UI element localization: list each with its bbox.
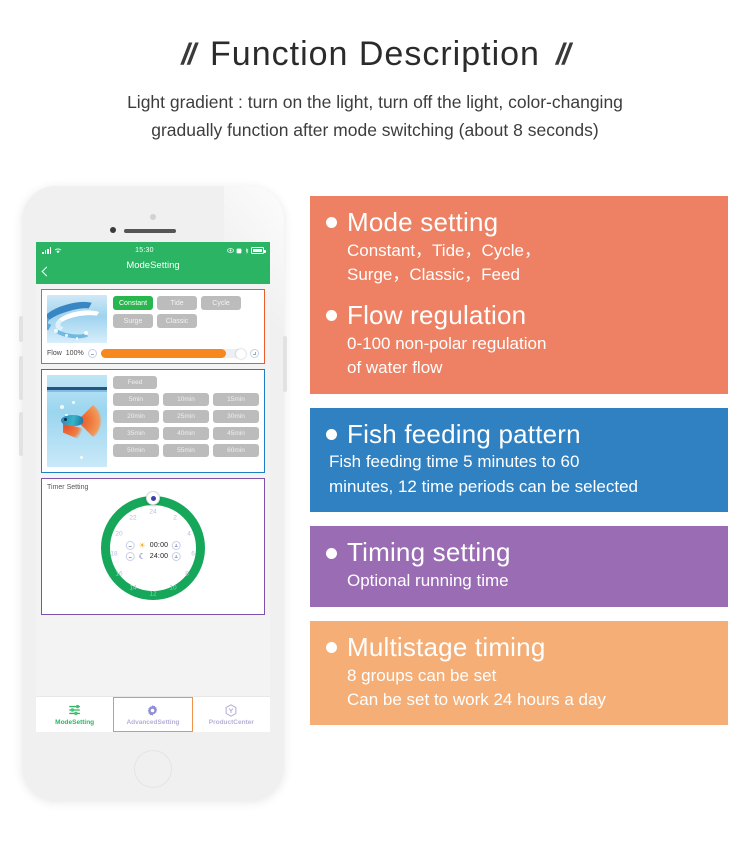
app-navbar: ModeSetting	[36, 259, 270, 284]
feature-card-timing-setting: Timing setting Optional running time	[310, 526, 728, 606]
mode-buttons: Constant Tide Cycle Surge Classic	[113, 295, 259, 343]
feed-buttons: Feed 5min 10min 15min 20min 25min 30min …	[113, 375, 259, 467]
function-description-page: // Function Description // Light gradien…	[0, 0, 750, 856]
home-button[interactable]	[134, 750, 172, 788]
hour-mark-2: 2	[173, 515, 177, 522]
status-bar-time: 15:30	[62, 247, 226, 254]
hour-mark-14: 14	[129, 585, 136, 592]
tab-advanced-setting[interactable]: AdvancedSetting	[113, 697, 192, 732]
tab-label-product-center: ProductCenter	[209, 719, 254, 726]
feed-duration-60min[interactable]: 60min	[213, 444, 259, 457]
phone-mute-switch	[19, 316, 23, 342]
timer-dial-handle[interactable]	[146, 491, 160, 505]
feed-row: Feed 5min 10min 15min 20min 25min 30min …	[47, 375, 259, 467]
bullet-dot-icon	[326, 310, 337, 321]
feed-duration-45min[interactable]: 45min	[213, 427, 259, 440]
hour-mark-6: 6	[191, 551, 195, 558]
card-line: Constant，Tide，Cycle，	[326, 240, 712, 262]
flow-slider-handle[interactable]	[236, 349, 246, 359]
status-bar-left	[42, 247, 62, 254]
feed-duration-30min[interactable]: 30min	[213, 410, 259, 423]
card-heading: Flow regulation	[326, 301, 712, 331]
navbar-title: ModeSetting	[126, 260, 179, 271]
flow-label: Flow	[47, 350, 62, 357]
feed-duration-25min[interactable]: 25min	[163, 410, 209, 423]
proximity-sensor-icon	[110, 227, 116, 233]
status-bar: 15:30	[36, 242, 270, 259]
front-camera-icon	[150, 214, 156, 220]
slash-left: //	[181, 38, 194, 71]
page-title-text: Function Description	[210, 36, 540, 73]
hour-mark-4: 4	[187, 531, 191, 538]
tab-label-advanced-setting: AdvancedSetting	[126, 719, 179, 726]
mode-button-surge[interactable]: Surge	[113, 314, 153, 328]
phone-volume-down-button	[19, 412, 23, 456]
tab-label-mode-setting: ModeSetting	[55, 719, 94, 726]
wifi-icon	[54, 247, 62, 254]
hexagon-icon	[225, 704, 237, 717]
flow-slider[interactable]	[101, 349, 246, 358]
timer-end-row: ☾ 24:00	[126, 552, 181, 561]
card-line: of water flow	[326, 357, 712, 379]
feature-card-fish-feeding: Fish feeding pattern Fish feeding time 5…	[310, 408, 728, 513]
hour-mark-16: 16	[115, 571, 122, 578]
feature-card-mode-setting: Mode setting Constant，Tide，Cycle， Surge，…	[310, 196, 728, 394]
timer-setting-panel: Timer Setting 24 2 4 6 8 10 12 14 16 18	[41, 478, 265, 615]
flow-value: 100%	[66, 350, 84, 357]
feed-duration-20min[interactable]: 20min	[113, 410, 159, 423]
card-line: 8 groups can be set	[326, 665, 712, 687]
mode-row: Constant Tide Cycle Surge Classic	[47, 295, 259, 343]
card-heading: Multistage timing	[326, 633, 712, 663]
phone-top-hardware	[22, 214, 284, 236]
signal-bars-icon	[42, 247, 51, 254]
end-time-value: 24:00	[150, 553, 169, 560]
timer-center-controls: ☀ 00:00 ☾ 24:00	[126, 539, 181, 563]
bullet-dot-icon	[326, 429, 337, 440]
page-header: // Function Description // Light gradien…	[0, 0, 750, 144]
status-bar-right	[227, 247, 265, 254]
card-title-flow-regulation: Flow regulation	[347, 301, 526, 331]
water-wave-thumbnail-icon	[47, 295, 107, 343]
hour-mark-20: 20	[115, 531, 122, 538]
eye-icon	[227, 247, 234, 254]
end-time-increase-button[interactable]	[171, 552, 180, 561]
back-chevron-icon[interactable]	[42, 267, 52, 277]
subtitle-line-2: gradually function after mode switching …	[0, 117, 750, 144]
subtitle-line-1: Light gradient : turn on the light, turn…	[0, 89, 750, 116]
feature-card-multistage-timing: Multistage timing 8 groups can be set Ca…	[310, 621, 728, 726]
moon-icon: ☾	[138, 552, 147, 561]
card-line: Can be set to work 24 hours a day	[326, 689, 712, 711]
flow-control-row: Flow 100%	[47, 349, 259, 358]
phone-screen: 15:30 ModeSett	[36, 242, 270, 732]
page-title: // Function Description //	[0, 36, 750, 73]
timer-setting-title: Timer Setting	[47, 484, 259, 491]
feed-button[interactable]: Feed	[113, 376, 157, 389]
bullet-dot-icon	[326, 548, 337, 559]
feed-duration-grid: 5min 10min 15min 20min 25min 30min 35min…	[113, 393, 259, 457]
hour-mark-12: 12	[149, 591, 156, 598]
alarm-icon	[236, 248, 242, 254]
tab-product-center[interactable]: ProductCenter	[193, 697, 270, 732]
card-line: Surge，Classic，Feed	[326, 264, 712, 286]
card-title-multistage-timing: Multistage timing	[347, 633, 545, 663]
mode-setting-panel: Constant Tide Cycle Surge Classic Flow 1…	[41, 289, 265, 364]
app-body: Constant Tide Cycle Surge Classic Flow 1…	[36, 284, 270, 732]
card-title-mode-setting: Mode setting	[347, 208, 498, 238]
feed-duration-5min[interactable]: 5min	[113, 393, 159, 406]
end-time-decrease-button[interactable]	[126, 552, 135, 561]
flow-increase-button[interactable]	[250, 349, 259, 358]
sliders-icon	[68, 704, 82, 717]
hour-mark-18: 18	[110, 551, 117, 558]
card-line: minutes, 12 time periods can be selected	[326, 476, 712, 498]
bottom-tab-bar: ModeSetting AdvancedSetting	[36, 696, 270, 732]
phone-mockup: 15:30 ModeSett	[22, 186, 284, 800]
gear-icon	[146, 704, 159, 717]
card-heading: Timing setting	[326, 538, 712, 568]
bluetooth-icon	[245, 248, 249, 254]
hour-mark-22: 22	[129, 515, 136, 522]
hour-mark-24: 24	[149, 509, 156, 516]
mode-button-classic[interactable]: Classic	[157, 314, 197, 328]
feature-cards: Mode setting Constant，Tide，Cycle， Surge，…	[310, 196, 728, 739]
card-heading: Fish feeding pattern	[326, 420, 712, 450]
card-line: Optional running time	[326, 570, 712, 592]
feed-duration-35min[interactable]: 35min	[113, 427, 159, 440]
card-line: Fish feeding time 5 minutes to 60	[326, 451, 712, 473]
bullet-dot-icon	[326, 642, 337, 653]
bullet-dot-icon	[326, 217, 337, 228]
timer-dial[interactable]: 24 2 4 6 8 10 12 14 16 18 20 22	[91, 492, 215, 610]
sun-icon: ☀	[138, 541, 147, 550]
fish-feeding-panel: Feed 5min 10min 15min 20min 25min 30min …	[41, 369, 265, 473]
timer-start-row: ☀ 00:00	[126, 541, 181, 550]
mode-button-cycle[interactable]: Cycle	[201, 296, 241, 310]
battery-icon	[251, 247, 264, 254]
feed-duration-40min[interactable]: 40min	[163, 427, 209, 440]
card-line: 0-100 non-polar regulation	[326, 333, 712, 355]
feed-duration-50min[interactable]: 50min	[113, 444, 159, 457]
tab-mode-setting[interactable]: ModeSetting	[36, 697, 113, 732]
hour-mark-10: 10	[169, 585, 176, 592]
feed-duration-55min[interactable]: 55min	[163, 444, 209, 457]
start-time-increase-button[interactable]	[171, 541, 180, 550]
page-subtitle: Light gradient : turn on the light, turn…	[0, 89, 750, 143]
phone-power-button	[283, 336, 287, 392]
card-title-fish-feeding: Fish feeding pattern	[347, 420, 581, 450]
phone-volume-up-button	[19, 356, 23, 400]
earpiece-speaker	[124, 229, 176, 233]
feed-duration-10min[interactable]: 10min	[163, 393, 209, 406]
feed-duration-15min[interactable]: 15min	[213, 393, 259, 406]
card-heading: Mode setting	[326, 208, 712, 238]
start-time-value: 00:00	[150, 542, 169, 549]
hour-mark-8: 8	[185, 571, 189, 578]
start-time-decrease-button[interactable]	[126, 541, 135, 550]
mode-button-tide[interactable]: Tide	[157, 296, 197, 310]
flow-decrease-button[interactable]	[88, 349, 97, 358]
betta-fish-thumbnail-icon	[47, 375, 107, 467]
slash-right: //	[556, 38, 569, 71]
card-title-timing-setting: Timing setting	[347, 538, 511, 568]
mode-button-constant[interactable]: Constant	[113, 296, 153, 310]
